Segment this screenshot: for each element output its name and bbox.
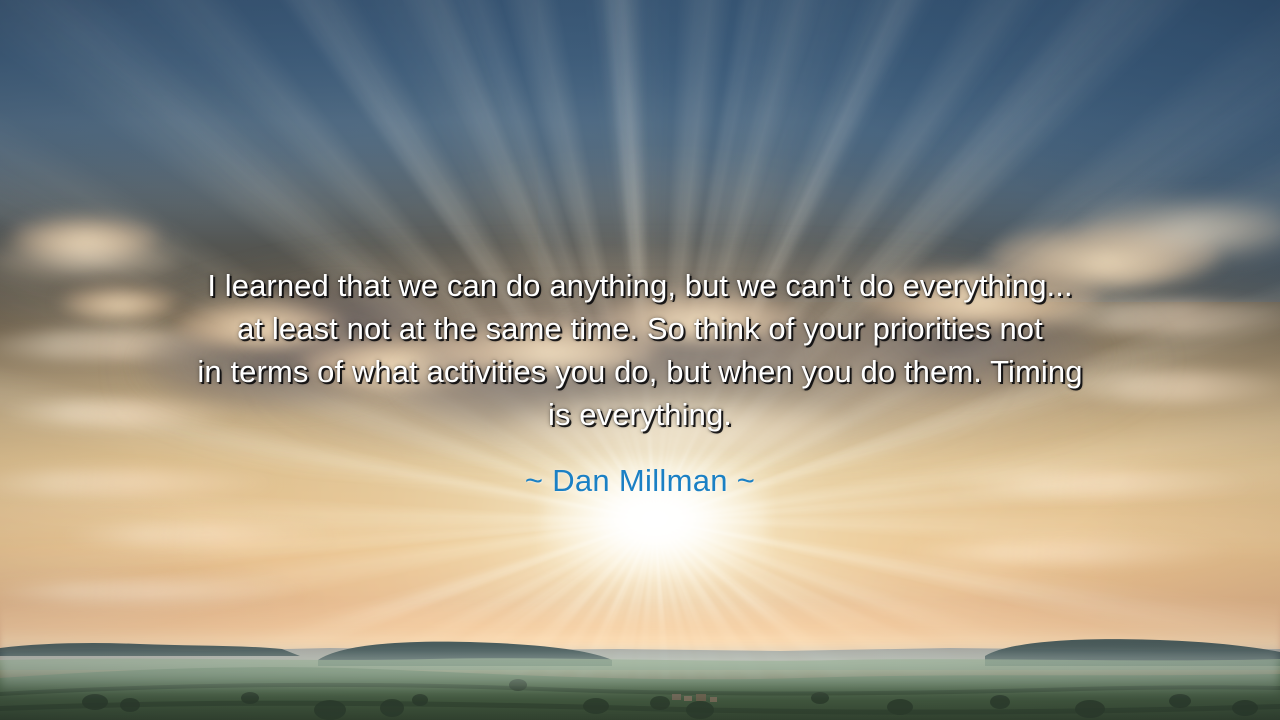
sky-upper-right-wedge bbox=[538, 0, 1280, 302]
treeline-left bbox=[0, 643, 300, 656]
sun-core bbox=[540, 458, 770, 578]
landscape-shapes bbox=[0, 630, 1280, 720]
quote-image-canvas: I learned that we can do anything, but w… bbox=[0, 0, 1280, 720]
landscape bbox=[0, 630, 1280, 720]
